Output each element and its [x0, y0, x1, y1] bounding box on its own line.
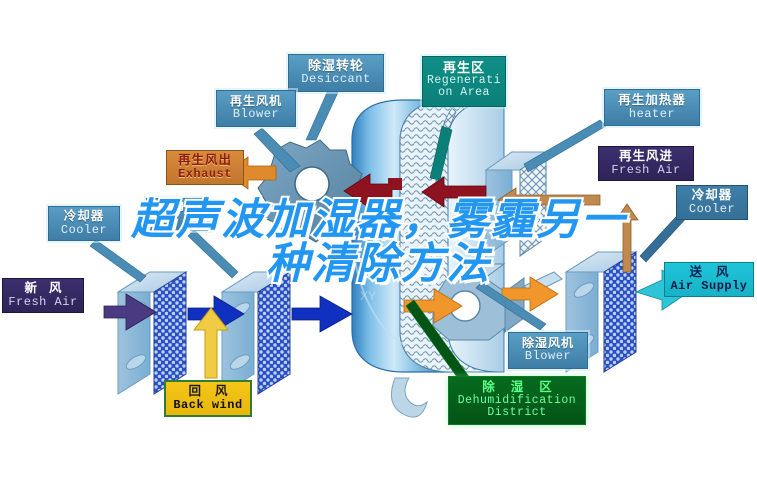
label-dehumidification-blower-en: Blower [512, 350, 584, 363]
label-air-supply: 送风 Air Supply [664, 262, 754, 297]
label-air-supply-cn: 送风 [668, 266, 750, 280]
label-fresh-air-inlet-cn: 新风 [6, 282, 80, 296]
label-exhaust: 再生风出 Exhaust [166, 150, 244, 185]
label-air-supply-en: Air Supply [668, 280, 750, 293]
cooler-coil-mid [222, 272, 290, 394]
label-regeneration-area-en2: on Area [426, 87, 502, 99]
label-regeneration-blower: 再生风机 Blower [216, 90, 296, 127]
label-dehumidification-district-en2: District [452, 407, 582, 419]
label-exhaust-cn: 再生风出 [170, 154, 240, 168]
label-back-wind-cn: 回风 [169, 385, 247, 399]
label-back-wind-en: Back wind [169, 399, 247, 412]
cooler-coil-left [118, 272, 186, 394]
label-cooler-right-en: Cooler [680, 203, 744, 216]
label-desiccant-rotor-en: Desiccant [293, 73, 379, 86]
label-cooler-right: 冷却器 Cooler [676, 185, 748, 220]
label-regeneration-heater: 再生加热器 heater [604, 89, 700, 126]
label-cooler-left: 冷却器 Cooler [48, 206, 120, 241]
label-fresh-air-inlet-en: Fresh Air [6, 296, 80, 309]
label-cooler-left-cn: 冷却器 [52, 210, 116, 224]
label-dehumidification-district-cn: 除湿区 [452, 381, 582, 395]
label-regeneration-blower-cn: 再生风机 [220, 95, 292, 108]
label-cooler-right-cn: 冷却器 [680, 189, 744, 203]
process-air-arrow-2 [292, 296, 352, 332]
label-dehumidification-blower-cn: 除湿风机 [512, 337, 584, 350]
label-regeneration-area-cn: 再生区 [426, 61, 502, 75]
label-regeneration-fresh-air-cn: 再生风进 [602, 150, 690, 164]
label-desiccant-rotor-cn: 除湿转轮 [293, 59, 379, 73]
label-cooler-left-small: 冷却器 [146, 198, 210, 231]
label-desiccant-rotor: 除湿转轮 Desiccant [288, 54, 384, 92]
label-back-wind: 回风 Back wind [164, 380, 252, 417]
desiccant-rotor-drum: XY [352, 100, 504, 417]
label-regeneration-heater-cn: 再生加热器 [608, 94, 696, 108]
label-cooler-left-small-cn: 冷却器 [150, 202, 206, 216]
label-regeneration-area: 再生区 Regenerati on Area [422, 56, 506, 107]
label-regeneration-blower-en: Blower [220, 108, 292, 121]
dehumidifier-diagram-canvas: XY [0, 0, 757, 488]
label-dehumidification-district: 除湿区 Dehumidification District [448, 376, 586, 425]
label-dehumidification-blower: 除湿风机 Blower [508, 332, 588, 369]
svg-text:XY: XY [360, 289, 376, 303]
label-regeneration-fresh-air: 再生风进 Fresh Air [598, 146, 694, 181]
label-cooler-left-en: Cooler [52, 224, 116, 237]
label-exhaust-en: Exhaust [170, 168, 240, 181]
label-regeneration-fresh-air-en: Fresh Air [602, 164, 690, 177]
label-fresh-air-inlet: 新风 Fresh Air [2, 278, 84, 313]
label-regeneration-heater-en: heater [608, 108, 696, 121]
